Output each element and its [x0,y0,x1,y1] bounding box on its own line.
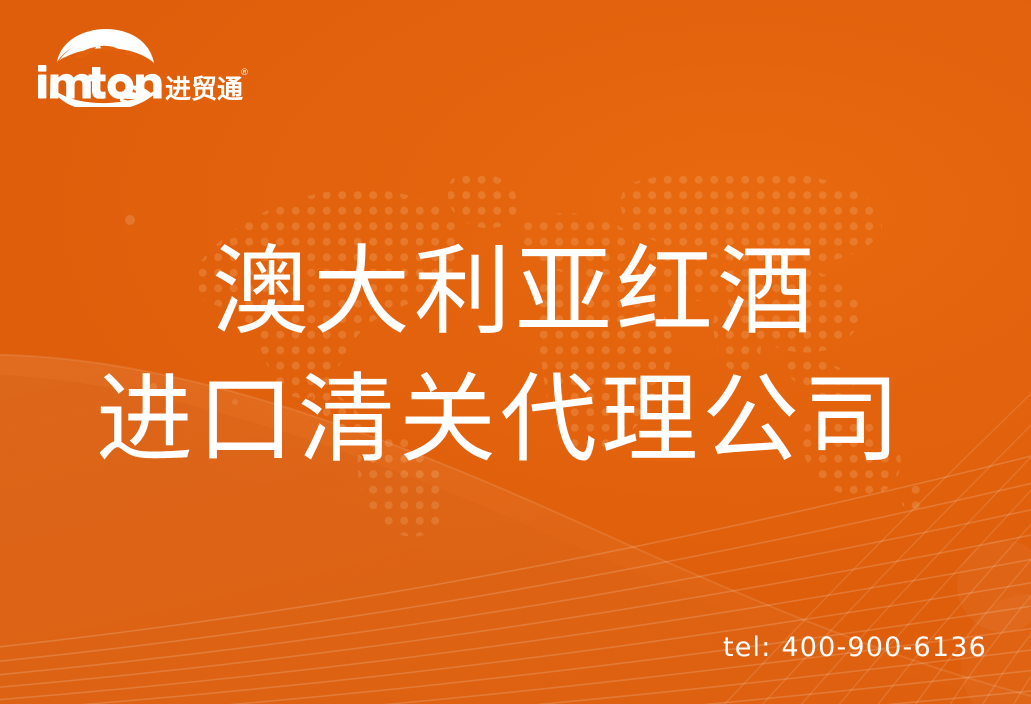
logo-wordmark [38,65,162,99]
promo-banner: 进贸通 ® imton 进贸通 ® 澳大利亚红酒 进口清关代理公司 tel: 4… [0,0,1031,704]
headline-line-1: 澳大利亚红酒 [0,228,1031,356]
headline-line-2: 进口清关代理公司 [0,356,1031,484]
logo-chinese-name: 进贸通 [165,75,243,105]
registered-trademark-symbol: ® [240,68,249,78]
contact-phone[interactable]: tel: 400-900-6136 [723,632,987,663]
page-title: 澳大利亚红酒 进口清关代理公司 [0,228,1031,484]
brand-logo[interactable]: 进贸通 ® imton 进贸通 ® [34,27,249,107]
